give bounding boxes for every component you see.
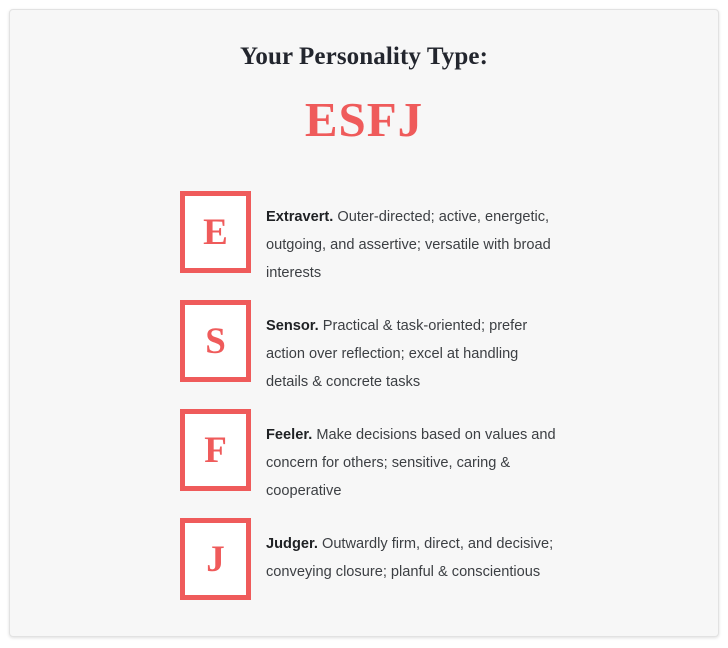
list-item: F Feeler. Make decisions based on values… [10, 402, 718, 511]
trait-description-block: Extravert. Outer-directed; active, energ… [251, 199, 556, 287]
badge-letter: S [205, 323, 226, 360]
personality-result-card: Your Personality Type: ESFJ E Extravert.… [9, 9, 719, 637]
page-title: Your Personality Type: [10, 10, 718, 71]
trait-name: Feeler. [266, 427, 312, 443]
letter-badge-inner: S [184, 304, 247, 378]
letter-badge-f: F [180, 409, 251, 491]
trait-name: Extravert. [266, 209, 333, 225]
trait-name: Judger. [266, 536, 318, 552]
badge-letter: F [204, 432, 227, 469]
letter-badge-inner: J [184, 522, 247, 596]
list-item: S Sensor. Practical & task-oriented; pre… [10, 293, 718, 402]
trait-description-block: Sensor. Practical & task-oriented; prefe… [251, 308, 556, 396]
badge-letter: J [206, 541, 225, 578]
letter-badge-e: E [180, 191, 251, 273]
badge-letter: E [203, 214, 228, 251]
letter-badge-s: S [180, 300, 251, 382]
letter-badge-inner: E [184, 195, 247, 269]
letter-badge-j: J [180, 518, 251, 600]
list-item: E Extravert. Outer-directed; active, ene… [10, 184, 718, 293]
list-item: J Judger. Outwardly firm, direct, and de… [10, 511, 718, 620]
trait-description-block: Feeler. Make decisions based on values a… [251, 417, 556, 505]
personality-type-code: ESFJ [10, 71, 718, 148]
trait-name: Sensor. [266, 318, 319, 334]
trait-list: E Extravert. Outer-directed; active, ene… [10, 184, 718, 620]
letter-badge-inner: F [184, 413, 247, 487]
trait-description-block: Judger. Outwardly firm, direct, and deci… [251, 526, 556, 586]
